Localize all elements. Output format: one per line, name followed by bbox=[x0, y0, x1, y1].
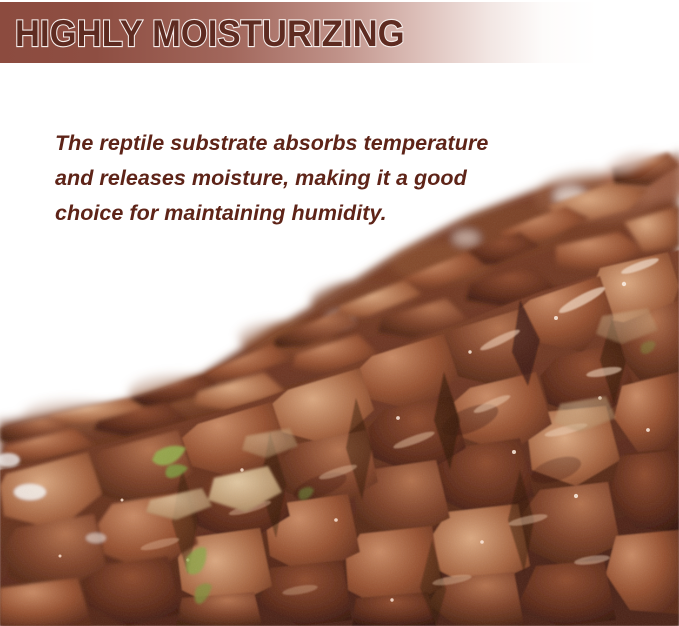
photo-grain bbox=[0, 0, 679, 626]
bark-photo-svg bbox=[0, 0, 679, 626]
header-banner: HIGHLY MOISTURIZING bbox=[0, 2, 679, 63]
bark-crevices bbox=[172, 300, 626, 626]
bark-layer-near bbox=[0, 250, 679, 626]
bark-pale-chips bbox=[146, 308, 658, 520]
moss-fragments bbox=[152, 341, 656, 604]
banner-title: HIGHLY MOISTURIZING bbox=[15, 14, 405, 54]
bark-highlights bbox=[59, 255, 661, 601]
product-feature-image: HIGHLY MOISTURIZING The reptile substrat… bbox=[0, 0, 679, 626]
description-paragraph: The reptile substrate absorbs temperatur… bbox=[55, 126, 525, 231]
bark-substrate-photo bbox=[0, 0, 679, 626]
